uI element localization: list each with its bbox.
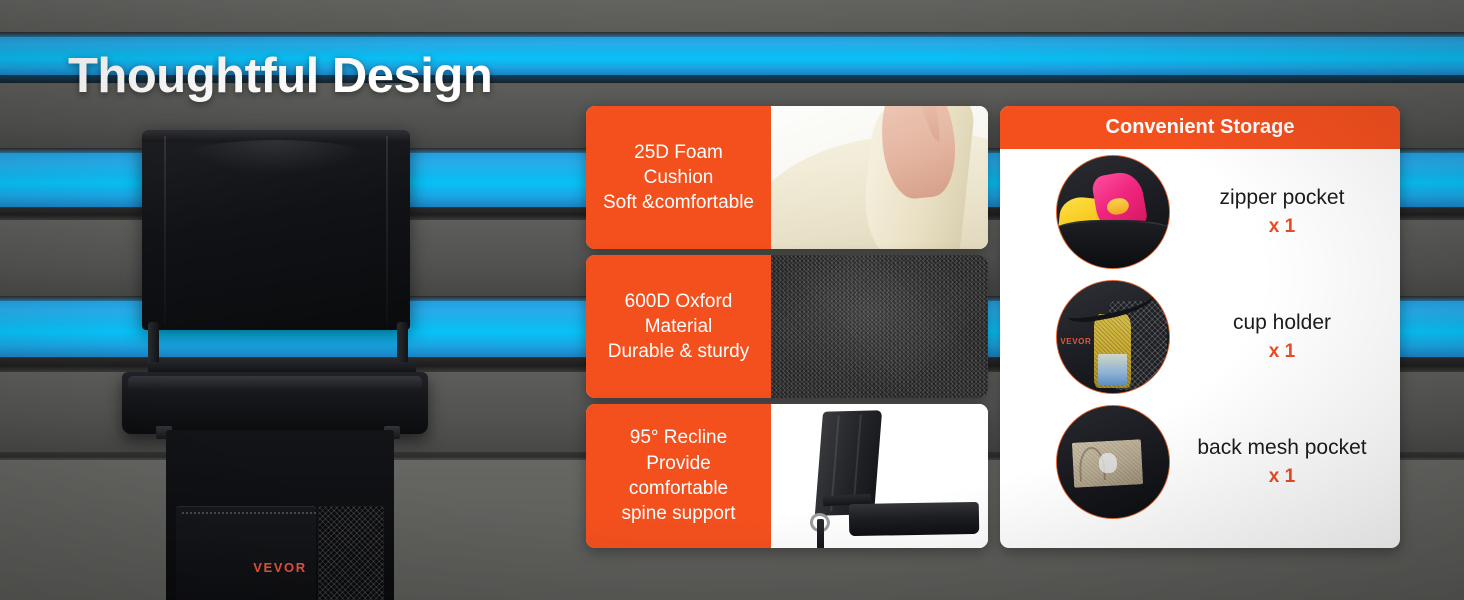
product-stadium-seat: VEVOR (120, 100, 440, 600)
page-title: Thoughtful Design (68, 48, 492, 104)
chair-storage-bag: VEVOR (166, 430, 394, 600)
feature-card-recline-support: 95° Recline Provide comfortable spine su… (586, 404, 988, 548)
storage-row-copy: cup holder x 1 (1170, 310, 1386, 363)
storage-row-label: zipper pocket (1178, 185, 1386, 210)
snack-graphic (1106, 197, 1130, 217)
recline-chair-leg (817, 519, 825, 548)
feature-line: 25D Foam (603, 140, 754, 165)
seat-highlight (128, 376, 422, 390)
chair-seat-cushion (122, 372, 428, 434)
feature-line: spine support (621, 501, 735, 526)
item-graphic (1098, 452, 1117, 474)
feature-card-text: 600D Oxford Material Durable & sturdy (586, 255, 771, 398)
oxford-weave-texture (771, 255, 988, 398)
pocket-flap (1056, 220, 1170, 267)
feature-line: Material (608, 314, 750, 339)
bleacher-step (0, 0, 1464, 36)
recline-chair-seat (849, 502, 980, 536)
chair-backrest (142, 130, 410, 330)
bottle-label (1098, 354, 1128, 385)
storage-thumb-cup-holder: VEVOR (1056, 280, 1170, 394)
vevor-logo: VEVOR (166, 560, 394, 575)
bag-zipper-pocket (176, 506, 316, 600)
storage-row-copy: zipper pocket x 1 (1170, 185, 1386, 238)
vevor-logo: VEVOR (1060, 337, 1091, 346)
storage-thumb-back-mesh-pocket (1056, 405, 1170, 519)
storage-row-zipper-pocket: zipper pocket x 1 (1000, 149, 1400, 274)
feature-card-oxford-material: 600D Oxford Material Durable & sturdy (586, 255, 988, 398)
bag-mesh-pocket (318, 506, 384, 600)
storage-thumb-zipper-pocket (1056, 155, 1170, 269)
feature-card-foam-cushion: 25D Foam Cushion Soft &comfortable (586, 106, 988, 249)
feature-card-text: 25D Foam Cushion Soft &comfortable (586, 106, 771, 249)
water-bottle (1094, 314, 1131, 388)
backrest-seam-right (386, 136, 388, 324)
feature-line: Provide (621, 451, 735, 476)
storage-row-count: x 1 (1178, 466, 1386, 488)
backrest-highlight (182, 140, 370, 174)
storage-panel: Convenient Storage zipper pocket x 1 VEV… (1000, 106, 1400, 548)
feature-line: Durable & sturdy (608, 339, 750, 364)
storage-row-label: cup holder (1178, 310, 1386, 335)
feature-card-image-oxford (771, 255, 988, 398)
feature-card-image-recline (771, 404, 988, 548)
storage-row-count: x 1 (1178, 216, 1386, 238)
feature-line: Soft &comfortable (603, 190, 754, 215)
storage-row-back-mesh-pocket: back mesh pocket x 1 (1000, 399, 1400, 524)
feature-card-text: 95° Recline Provide comfortable spine su… (586, 404, 771, 548)
stowed-item (1072, 440, 1144, 488)
storage-row-copy: back mesh pocket x 1 (1170, 435, 1386, 488)
backrest-seam-left (164, 136, 166, 324)
feature-line: 95° Recline (621, 425, 735, 450)
storage-row-count: x 1 (1178, 341, 1386, 363)
feature-line: 600D Oxford (608, 289, 750, 314)
feature-line: comfortable (621, 476, 735, 501)
banner-stage: Thoughtful Design VEVOR 25D Foam Cushi (0, 0, 1464, 600)
fabric-sheen (771, 255, 988, 398)
storage-row-cup-holder: VEVOR cup holder x 1 (1000, 274, 1400, 399)
storage-panel-header: Convenient Storage (1000, 106, 1400, 149)
feature-line: Cushion (603, 165, 754, 190)
storage-row-label: back mesh pocket (1178, 435, 1386, 460)
feature-card-image-foam (771, 106, 988, 249)
